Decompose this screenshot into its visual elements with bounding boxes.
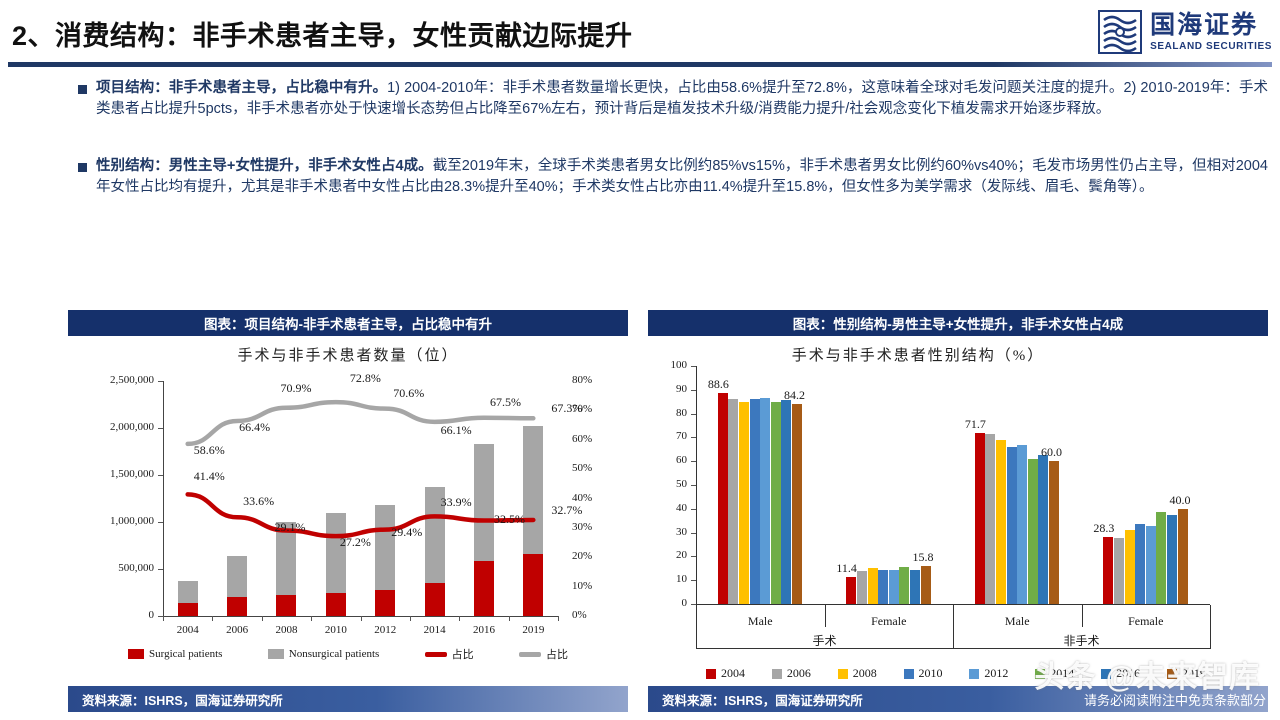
y-tick-label: 1,500,000	[68, 468, 154, 480]
slide-header: 2、消费结构：非手术患者主导，女性贡献边际提升 国海证券 SEALAND SEC…	[0, 0, 1280, 68]
y-tick-label: 0	[68, 609, 154, 621]
plot-area-right: 010203040506070809010088.684.2Male11.415…	[648, 336, 1268, 675]
super-group-label: 手术	[696, 632, 953, 649]
bar	[1135, 524, 1145, 604]
legend-label: 占比	[452, 646, 474, 662]
x-tick	[410, 616, 411, 621]
line-label-nonsurgical-share: 67.3%	[551, 401, 582, 416]
y-tick	[691, 437, 696, 438]
bar	[1178, 509, 1188, 604]
bar	[1028, 459, 1038, 604]
bar	[985, 434, 995, 604]
legend-item[interactable]: 2004	[706, 666, 745, 681]
y2-tick-label: 0%	[572, 609, 587, 621]
disclaimer-text: 请务必阅读附注中免责条款部分	[1084, 686, 1266, 712]
bar-value-label-last: 84.2	[784, 388, 805, 403]
bullet-marker-icon	[78, 163, 87, 172]
chart-left: 手术与非手术患者数量（位） 0500,0001,000,0001,500,000…	[68, 336, 628, 675]
y-tick-label: 1,000,000	[68, 515, 154, 527]
bullet-text-1: 项目结构：非手术患者主导，占比稳中有升。1) 2004-2010年：非手术患者数…	[96, 78, 1268, 119]
legend-label: Nonsurgical patients	[289, 648, 380, 660]
y-axis-line	[696, 366, 697, 604]
y-tick	[158, 475, 163, 476]
legend-swatch-icon	[519, 652, 541, 657]
bar-surgical	[276, 595, 296, 616]
line-label-surgical-share: 29.1%	[274, 520, 305, 535]
legend-item[interactable]: 2008	[838, 666, 877, 681]
y2-tick-label: 50%	[572, 462, 592, 474]
bar	[728, 399, 738, 604]
bar-nonsurgical	[375, 505, 395, 591]
x-tick	[509, 616, 510, 621]
legend-swatch-icon	[838, 669, 848, 679]
line-label-surgical-share: 32.7%	[551, 503, 582, 518]
logo-text-cn: 国海证券	[1150, 13, 1272, 38]
legend-item[interactable]: 2016	[1101, 666, 1140, 681]
y-tick	[691, 414, 696, 415]
y-tick-label: 2,000,000	[68, 421, 154, 433]
bar-surgical	[178, 603, 198, 616]
line-label-nonsurgical-share: 70.6%	[393, 386, 424, 401]
legend-item[interactable]: Nonsurgical patients	[268, 648, 380, 660]
panel-title-left: 图表：项目结构-非手术患者主导，占比稳中有升	[68, 310, 628, 336]
bar	[857, 571, 867, 604]
bar-surgical	[375, 590, 395, 616]
legend-label: 2016	[1116, 666, 1140, 681]
bar	[760, 398, 770, 604]
group-label: Female	[825, 614, 954, 629]
y-tick	[691, 390, 696, 391]
legend-swatch-icon	[268, 649, 284, 659]
legend-label: 2014	[1050, 666, 1074, 681]
legend-item[interactable]: Surgical patients	[128, 648, 222, 660]
bar	[921, 566, 931, 604]
line-label-nonsurgical-share: 58.6%	[194, 443, 225, 458]
y-tick-label: 50	[648, 478, 687, 490]
bar-nonsurgical	[474, 444, 494, 561]
x-tick	[262, 616, 263, 621]
y-tick	[691, 485, 696, 486]
chart-legend-left: Surgical patientsNonsurgical patients占比占…	[128, 646, 568, 662]
bar-surgical	[227, 597, 247, 616]
legend-label: 2004	[721, 666, 745, 681]
bar-nonsurgical	[178, 581, 198, 603]
y-tick	[158, 428, 163, 429]
bar	[1167, 515, 1177, 604]
legend-item[interactable]: 2012	[969, 666, 1008, 681]
legend-item[interactable]: 2010	[904, 666, 943, 681]
bar-nonsurgical	[326, 513, 346, 594]
bar-value-label-last: 40.0	[1170, 493, 1191, 508]
x-tick-label: 2016	[466, 624, 502, 636]
bullet-lead-2: 性别结构：男性主导+女性提升，非手术女性占4成。	[96, 158, 433, 174]
bar	[868, 568, 878, 604]
bar	[1007, 447, 1017, 604]
bar	[781, 400, 791, 604]
y-tick-label: 20	[648, 549, 687, 561]
bar	[996, 440, 1006, 604]
source-note-left: 资料来源：ISHRS，国海证券研究所	[68, 686, 628, 712]
bar-nonsurgical	[227, 556, 247, 597]
line-label-nonsurgical-share: 66.4%	[239, 420, 270, 435]
legend-item[interactable]: 2006	[772, 666, 811, 681]
legend-label: 2012	[984, 666, 1008, 681]
bar-value-label-first: 28.3	[1093, 521, 1114, 536]
legend-item[interactable]: 占比	[425, 646, 474, 662]
x-tick	[311, 616, 312, 621]
x-tick	[558, 616, 559, 621]
y2-tick-label: 10%	[572, 580, 592, 592]
x-tick-label: 2004	[170, 624, 206, 636]
bar	[899, 567, 909, 604]
x-tick	[361, 616, 362, 621]
y-tick-label: 80	[648, 407, 687, 419]
bar	[1103, 537, 1113, 604]
bar	[1125, 530, 1135, 604]
group-label: Male	[696, 614, 825, 629]
y-tick-label: 2,500,000	[68, 374, 154, 386]
legend-swatch-icon	[969, 669, 979, 679]
y-tick-label: 0	[648, 597, 687, 609]
y-tick	[691, 556, 696, 557]
bar-value-label-last: 15.8	[913, 550, 934, 565]
bar-nonsurgical	[523, 426, 543, 554]
y-tick-label: 10	[648, 573, 687, 585]
x-tick	[459, 616, 460, 621]
chart-right: 手术与非手术患者性别结构（%） 010203040506070809010088…	[648, 336, 1268, 675]
y-tick	[158, 522, 163, 523]
bar	[1038, 455, 1048, 604]
line-label-surgical-share: 33.6%	[243, 494, 274, 509]
bar	[889, 570, 899, 604]
legend-swatch-icon	[425, 652, 447, 657]
legend-label: Surgical patients	[149, 648, 222, 660]
plot-area-left: 0500,0001,000,0001,500,0002,000,0002,500…	[68, 336, 628, 675]
brand-logo: 国海证券 SEALAND SECURITIES	[1098, 10, 1272, 54]
y-tick-label: 30	[648, 526, 687, 538]
bar-surgical	[425, 583, 445, 616]
legend-swatch-icon	[1167, 669, 1177, 679]
bar-surgical	[326, 593, 346, 616]
legend-item[interactable]: 占比	[519, 646, 568, 662]
line-label-nonsurgical-share: 72.8%	[350, 371, 381, 386]
y-axis-line	[163, 381, 164, 616]
line-label-nonsurgical-share: 70.9%	[280, 381, 311, 396]
bar	[878, 570, 888, 604]
bar	[739, 402, 749, 604]
bar	[910, 570, 920, 604]
line-label-nonsurgical-share: 67.5%	[490, 395, 521, 410]
bar	[1017, 445, 1027, 604]
y-tick	[158, 381, 163, 382]
y2-tick-label: 80%	[572, 374, 592, 386]
legend-label: 占比	[546, 646, 568, 662]
legend-label: 2010	[919, 666, 943, 681]
y-tick-label: 70	[648, 430, 687, 442]
y-tick	[691, 509, 696, 510]
bar	[1114, 538, 1124, 604]
chart-panel-left: 图表：项目结构-非手术患者主导，占比稳中有升 手术与非手术患者数量（位） 050…	[68, 310, 628, 675]
bar-value-label-first: 71.7	[965, 417, 986, 432]
super-group-label: 非手术	[953, 632, 1210, 649]
y2-tick-label: 60%	[572, 433, 592, 445]
x-tick-label: 2014	[417, 624, 453, 636]
legend-swatch-icon	[706, 669, 716, 679]
x-tick-label: 2006	[219, 624, 255, 636]
bar	[750, 399, 760, 604]
bar-value-label-first: 11.4	[836, 561, 857, 576]
header-divider	[8, 62, 1272, 67]
line-label-surgical-share: 41.4%	[194, 469, 225, 484]
legend-swatch-icon	[1101, 669, 1111, 679]
chart-panel-right: 图表：性别结构-男性主导+女性提升，非手术女性占4成 手术与非手术患者性别结构（…	[648, 310, 1268, 675]
y-tick-label: 100	[648, 359, 687, 371]
y-tick	[158, 569, 163, 570]
y2-tick-label: 40%	[572, 492, 592, 504]
x-tick-label: 2008	[268, 624, 304, 636]
bullet-text-2: 性别结构：男性主导+女性提升，非手术女性占4成。截至2019年末，全球手术类患者…	[96, 156, 1268, 197]
legend-swatch-icon	[1035, 669, 1045, 679]
legend-label: 2008	[853, 666, 877, 681]
legend-swatch-icon	[904, 669, 914, 679]
y-tick	[691, 580, 696, 581]
legend-item[interactable]: 2014	[1035, 666, 1074, 681]
panel-title-right: 图表：性别结构-男性主导+女性提升，非手术女性占4成	[648, 310, 1268, 336]
bullet-item-2: 性别结构：男性主导+女性提升，非手术女性占4成。截至2019年末，全球手术类患者…	[78, 156, 1268, 197]
y-tick-label: 40	[648, 502, 687, 514]
bar	[718, 393, 728, 604]
bar-surgical	[474, 561, 494, 616]
group-separator	[825, 605, 826, 627]
y2-tick-label: 30%	[572, 521, 592, 533]
bar	[975, 433, 985, 604]
line-label-nonsurgical-share: 66.1%	[441, 423, 472, 438]
y-tick	[691, 533, 696, 534]
sealand-wave-logo-icon	[1098, 10, 1142, 54]
line-label-surgical-share: 29.4%	[391, 525, 422, 540]
bullet-lead-1: 项目结构：非手术患者主导，占比稳中有升。	[96, 80, 387, 96]
line-label-surgical-share: 27.2%	[340, 535, 371, 550]
x-tick-label: 2019	[515, 624, 551, 636]
y-tick-label: 90	[648, 383, 687, 395]
line-label-surgical-share: 32.5%	[494, 512, 525, 527]
x-tick-label: 2010	[318, 624, 354, 636]
bullet-item-1: 项目结构：非手术患者主导，占比稳中有升。1) 2004-2010年：非手术患者数…	[78, 78, 1268, 119]
legend-label: 2019	[1182, 666, 1206, 681]
bullet-marker-icon	[78, 85, 87, 94]
logo-text-en: SEALAND SECURITIES	[1150, 42, 1272, 52]
bar-surgical	[523, 554, 543, 616]
x-tick-label: 2012	[367, 624, 403, 636]
y2-tick-label: 20%	[572, 550, 592, 562]
bar	[1146, 526, 1156, 604]
y-tick-label: 500,000	[68, 562, 154, 574]
y-tick	[691, 461, 696, 462]
bar	[792, 404, 802, 604]
group-label: Male	[953, 614, 1082, 629]
bar	[771, 402, 781, 604]
y-tick	[691, 366, 696, 367]
group-label: Female	[1082, 614, 1211, 629]
group-separator	[1210, 605, 1211, 649]
bar	[846, 577, 856, 604]
line-label-surgical-share: 33.9%	[441, 495, 472, 510]
x-tick	[163, 616, 164, 621]
bar	[1049, 461, 1059, 604]
bar-value-label-last: 60.0	[1041, 445, 1062, 460]
legend-label: 2006	[787, 666, 811, 681]
y-tick-label: 60	[648, 454, 687, 466]
legend-item[interactable]: 2019	[1167, 666, 1206, 681]
legend-swatch-icon	[128, 649, 144, 659]
bar-value-label-first: 88.6	[708, 377, 729, 392]
legend-swatch-icon	[772, 669, 782, 679]
group-separator	[1082, 605, 1083, 627]
chart-legend-right: 20042006200820102012201420162019	[706, 666, 1206, 681]
bar	[1156, 512, 1166, 604]
x-tick	[212, 616, 213, 621]
page-title: 2、消费结构：非手术患者主导，女性贡献边际提升	[12, 14, 633, 53]
